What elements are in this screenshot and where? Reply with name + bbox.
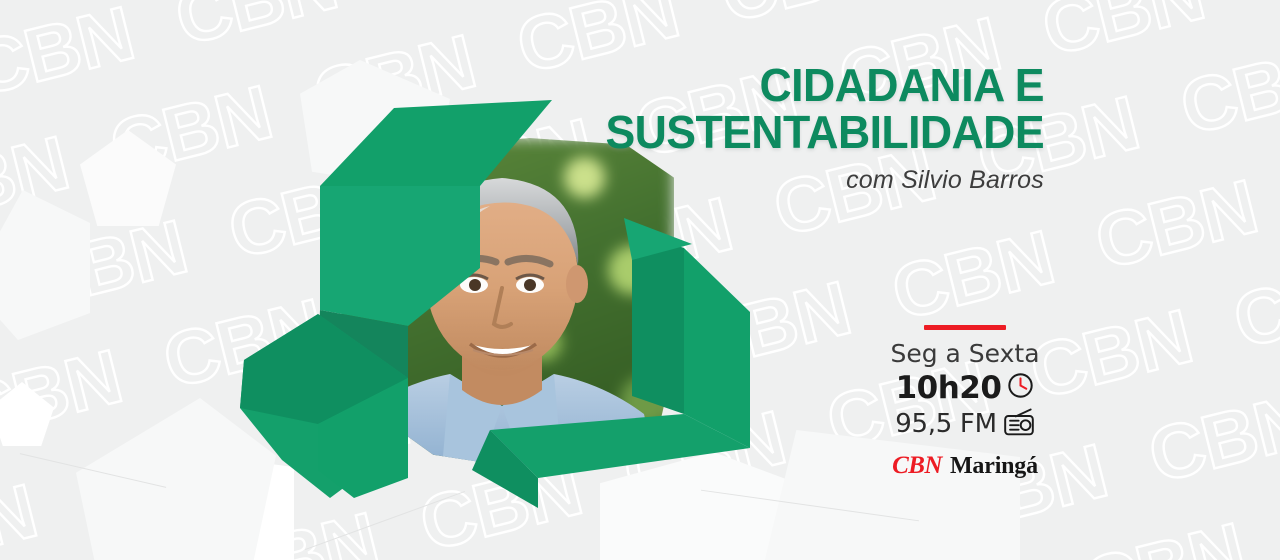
watermark-word: CBN (0, 473, 43, 560)
watermark-word: CBN (1142, 382, 1280, 495)
radio-program-banner: CBNCBNCBNCBNCBNCBNCBNCBNCBNCBNCBNCBNCBNC… (0, 0, 1280, 560)
station-city-name: Maringá (950, 453, 1038, 480)
schedule-time: 10h20 (896, 371, 1002, 405)
station-logo: CBN Maringá (880, 452, 1050, 480)
schedule-days: Seg a Sexta (880, 339, 1050, 369)
red-divider-rule (924, 325, 1006, 330)
clock-icon (1007, 372, 1034, 404)
watermark-word: CBN (1089, 169, 1264, 282)
schedule-frequency-row: 95,5 FM (880, 408, 1050, 441)
schedule-frequency: 95,5 FM (895, 410, 996, 439)
station-network-name: CBN (892, 452, 942, 480)
program-host-name: com Silvio Barros (520, 166, 1044, 195)
radio-icon (1003, 408, 1035, 441)
program-title-line1: CIDADANIA E (536, 62, 1044, 109)
watermark-word: CBN (885, 220, 1060, 333)
schedule-block: Seg a Sexta 10h20 95,5 FM (880, 325, 1050, 480)
program-title-block: CIDADANIA E SUSTENTABILIDADE com Silvio … (520, 62, 1044, 195)
watermark-word: CBN (1174, 34, 1280, 147)
schedule-time-row: 10h20 (880, 371, 1050, 405)
program-title-line2: SUSTENTABILIDADE (536, 109, 1044, 156)
